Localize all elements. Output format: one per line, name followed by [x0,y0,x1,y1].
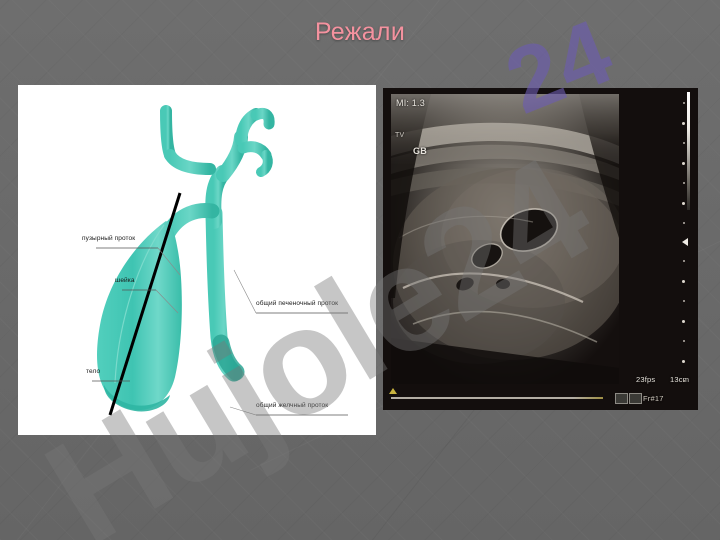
cystic-duct-stub [166,111,170,155]
hepatic-branch-mid-hook [261,155,268,172]
leader-line-hepatic-b [234,270,256,313]
bile-duct-distal-shape [221,343,236,372]
label-common-bile-duct: общий желчный проток [256,402,328,409]
ultrasound-mi-readout: MI: 1.3 [396,98,425,108]
ultrasound-panel: MI: 1.3 TV GB 23fps 13cm Fr#17 [383,88,698,410]
anatomy-diagram-panel: пузырный проток шейка тело общий печеноч… [18,85,376,435]
label-common-hepatic-duct: общий печеночный проток [256,300,338,307]
ultrasound-position-marker-icon [389,388,397,394]
ultrasound-gb-annotation: GB [413,146,427,156]
presentation-slide: Режали [0,0,720,540]
label-gallbladder-neck: шейка [115,277,135,284]
ultrasound-probe-label: TV [395,132,404,139]
gallbladder-diagram-svg [18,85,376,435]
cystic-duct-connector [170,155,210,169]
ultrasound-toolbar-icon-2[interactable] [629,393,642,404]
ultrasound-frame-number: Fr#17 [643,394,664,403]
gallbladder-body-shape [97,221,182,410]
slide-title: Режали [0,18,720,47]
hepatic-branch-upper [256,113,269,124]
label-gallbladder-body: тело [86,368,100,375]
leader-line-bile-b [230,407,256,415]
label-cystic-duct: пузырный проток [82,235,135,242]
ultrasound-depth-scale [676,92,692,392]
ultrasound-frame-rate: 23fps [636,375,655,384]
ultrasound-scan-svg [383,88,698,410]
ultrasound-toolbar-icon-1[interactable] [615,393,628,404]
ultrasound-baseline-bar [391,397,603,399]
depth-focus-marker-icon[interactable] [682,238,688,246]
depth-gain-gradient [687,92,690,210]
